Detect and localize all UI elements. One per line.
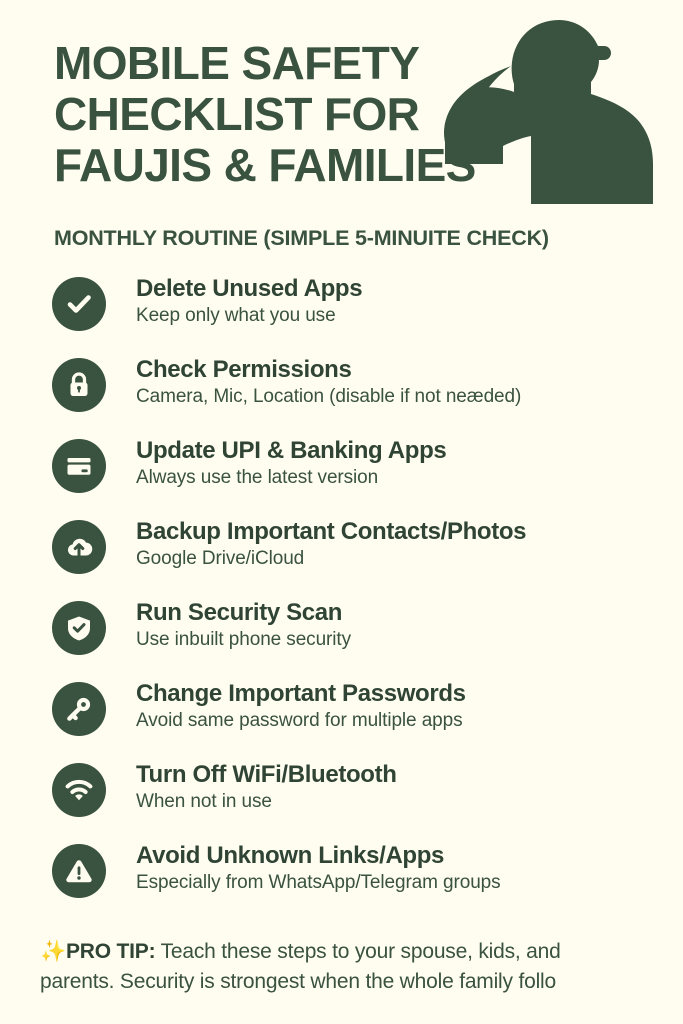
checklist-item: Check Permissions Camera, Mic, Location … <box>52 354 683 435</box>
checklist-item-text: Delete Unused Apps Keep only what you us… <box>136 273 362 329</box>
sparkles-icon: ✨ <box>40 940 66 963</box>
checklist-item: Run Security Scan Use inbuilt phone secu… <box>52 597 683 678</box>
checklist-item-text: Turn Off WiFi/Bluetooth When not in use <box>136 759 397 815</box>
checklist-item: Change Important Passwords Avoid same pa… <box>52 678 683 759</box>
checklist-item-subtitle: When not in use <box>136 790 397 815</box>
checklist-item-title: Delete Unused Apps <box>136 274 362 303</box>
checklist-item: Turn Off WiFi/Bluetooth When not in use <box>52 759 683 840</box>
checklist-item-subtitle: Always use the latest version <box>136 466 446 491</box>
checklist-item: Delete Unused Apps Keep only what you us… <box>52 273 683 354</box>
cloud-upload-icon <box>52 520 106 574</box>
checklist-item-text: Change Important Passwords Avoid same pa… <box>136 678 466 734</box>
header: MOBILE SAFETY CHECKLIST FOR FAUJIS & FAM… <box>0 0 683 212</box>
checklist: Delete Unused Apps Keep only what you us… <box>0 273 683 921</box>
pro-tip-line-2: parents. Security is strongest when the … <box>40 967 683 997</box>
credit-card-icon <box>52 439 106 493</box>
checklist-item-subtitle: Especially from WhatsApp/Telegram groups <box>136 871 501 896</box>
checklist-item-subtitle: Google Drive/iCloud <box>136 547 526 572</box>
checklist-item: Backup Important Contacts/Photos Google … <box>52 516 683 597</box>
page-title: MOBILE SAFETY CHECKLIST FOR FAUJIS & FAM… <box>54 38 654 190</box>
pro-tip-footer: ✨PRO TIP: Teach these steps to your spou… <box>40 937 683 997</box>
checklist-item-title: Run Security Scan <box>136 598 351 627</box>
checklist-item-title: Change Important Passwords <box>136 679 466 708</box>
checklist-item-subtitle: Camera, Mic, Location (disable if not ne… <box>136 385 521 410</box>
checklist-item: Avoid Unknown Links/Apps Especially from… <box>52 840 683 921</box>
checklist-item-subtitle: Keep only what you use <box>136 304 362 329</box>
checklist-item-text: Check Permissions Camera, Mic, Location … <box>136 354 521 410</box>
checklist-item-text: Avoid Unknown Links/Apps Especially from… <box>136 840 501 896</box>
checklist-item-title: Turn Off WiFi/Bluetooth <box>136 760 397 789</box>
checklist-item-title: Check Permissions <box>136 355 521 384</box>
pro-tip-line-1: ✨PRO TIP: Teach these steps to your spou… <box>40 937 683 967</box>
check-circle-icon <box>52 277 106 331</box>
checklist-item-title: Avoid Unknown Links/Apps <box>136 841 501 870</box>
shield-check-icon <box>52 601 106 655</box>
wifi-icon <box>52 763 106 817</box>
infographic-poster: MOBILE SAFETY CHECKLIST FOR FAUJIS & FAM… <box>0 0 683 1024</box>
checklist-item-text: Backup Important Contacts/Photos Google … <box>136 516 526 572</box>
checklist-item-subtitle: Use inbuilt phone security <box>136 628 351 653</box>
warning-triangle-icon <box>52 844 106 898</box>
pro-tip-label: PRO TIP: <box>66 940 155 963</box>
lock-icon <box>52 358 106 412</box>
checklist-item-text: Run Security Scan Use inbuilt phone secu… <box>136 597 351 653</box>
title-line-1: MOBILE SAFETY <box>54 38 654 89</box>
title-line-3: FAUJIS & FAMILIES <box>54 140 654 191</box>
checklist-item-title: Update UPI & Banking Apps <box>136 436 446 465</box>
checklist-item: Update UPI & Banking Apps Always use the… <box>52 435 683 516</box>
pro-tip-text-1: Teach these steps to your spouse, kids, … <box>155 940 560 963</box>
checklist-item-title: Backup Important Contacts/Photos <box>136 517 526 546</box>
checklist-item-subtitle: Avoid same password for multiple apps <box>136 709 466 734</box>
section-subtitle: MONTHLY ROUTINE (SIMPLE 5-MINUITE CHECK) <box>54 226 683 251</box>
checklist-item-text: Update UPI & Banking Apps Always use the… <box>136 435 446 491</box>
key-icon <box>52 682 106 736</box>
title-line-2: CHECKLIST FOR <box>54 89 654 140</box>
